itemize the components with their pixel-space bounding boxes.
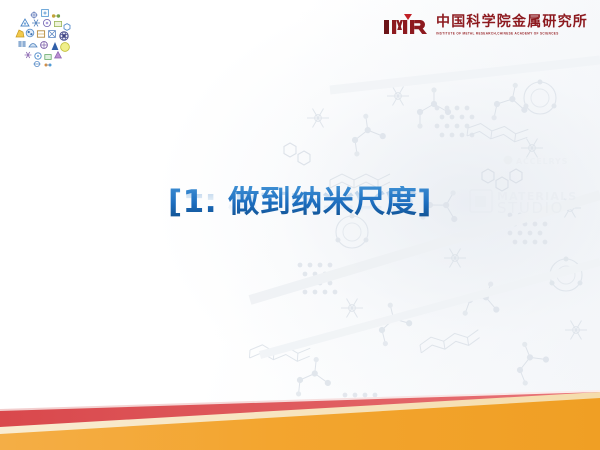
slide-title-block: [1. 做到纳米尺度] [1. 做到纳米尺度] — [0, 186, 600, 254]
imr-name-block: 中国科学院金属研究所 INSTITUTE OF METAL RESEARCH,C… — [436, 15, 588, 35]
molecular-collage-logo — [12, 6, 78, 72]
imr-chinese-name: 中国科学院金属研究所 — [436, 15, 588, 29]
slide-title-reflection: [1. 做到纳米尺度] — [0, 187, 600, 220]
presentation-slide: MATERIALS STUDIO ACCELRYS — [0, 0, 600, 450]
imr-english-name: INSTITUTE OF METAL RESEARCH,CHINESE ACAD… — [436, 32, 588, 36]
imr-institute-logo: 中国科学院金属研究所 INSTITUTE OF METAL RESEARCH,C… — [383, 10, 588, 40]
bottom-decorative-bands — [0, 390, 600, 450]
imr-mark-icon — [383, 14, 431, 36]
